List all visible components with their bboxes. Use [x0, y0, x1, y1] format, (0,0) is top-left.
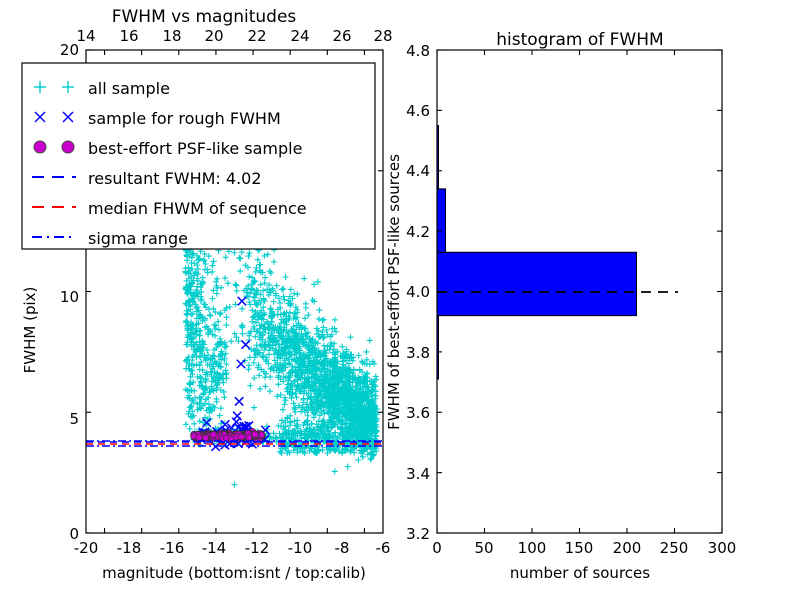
y-tick-label: 4.4 — [406, 162, 430, 180]
top-tick-label: 28 — [373, 27, 392, 45]
y-tick-label: 4.0 — [406, 283, 430, 301]
right-panel-yticklabels: 3.2 3.4 3.6 3.8 4.0 4.2 4.4 4.6 4.8 — [406, 42, 430, 543]
x-tick-label: 250 — [660, 539, 689, 557]
legend-label: all sample — [88, 79, 170, 98]
y-tick-label: 3.4 — [406, 465, 430, 483]
bottom-tick-label: -14 — [202, 539, 227, 557]
y-tick-label: 3.6 — [406, 404, 430, 422]
figure-canvas: FWHM vs magnitudes 14 16 18 20 22 24 26 … — [0, 0, 800, 600]
y-tick-label: 3.8 — [406, 344, 430, 362]
legend-label: best-effort PSF-like sample — [88, 139, 302, 158]
bottom-tick-label: -16 — [160, 539, 185, 557]
x-tick-label: 50 — [474, 539, 493, 557]
bottom-tick-label: -8 — [335, 539, 350, 557]
top-tick-label: 26 — [332, 27, 351, 45]
y-tick-label: 0 — [69, 525, 79, 543]
left-panel-ylabel: FWHM (pix) — [21, 287, 39, 374]
top-tick-label: 24 — [290, 27, 309, 45]
top-tick-label: 14 — [76, 27, 95, 45]
y-tick-label: 4.2 — [406, 223, 430, 241]
right-panel-xlabel: number of sources — [510, 564, 650, 582]
legend[interactable]: all sample sample for rough FWHM best-ef… — [22, 63, 375, 249]
y-tick-label: 20 — [60, 41, 79, 59]
x-tick-label: 150 — [565, 539, 594, 557]
y-tick-label: 5 — [69, 410, 79, 428]
histogram-bar — [437, 252, 637, 315]
legend-label: sigma range — [88, 229, 188, 248]
y-tick-label: 4.8 — [406, 42, 430, 60]
bottom-tick-label: -12 — [245, 539, 270, 557]
top-tick-label: 20 — [204, 27, 223, 45]
matplotlib-figure: FWHM vs magnitudes 14 16 18 20 22 24 26 … — [0, 0, 800, 600]
y-tick-label: 10 — [60, 288, 79, 306]
top-tick-label: 18 — [162, 27, 181, 45]
legend-label: sample for rough FWHM — [88, 109, 281, 128]
x-tick-label: 0 — [432, 539, 442, 557]
bottom-tick-label: -6 — [376, 539, 391, 557]
legend-label: median FHWM of sequence — [88, 199, 307, 218]
x-tick-label: 100 — [518, 539, 547, 557]
bottom-tick-label: -10 — [288, 539, 313, 557]
top-tick-label: 16 — [119, 27, 138, 45]
top-tick-label: 22 — [247, 27, 266, 45]
right-panel-title: histogram of FWHM — [496, 30, 663, 50]
histogram-bar — [437, 189, 446, 252]
left-panel-xlabel: magnitude (bottom:isnt / top:calib) — [102, 564, 366, 582]
right-panel-ylabel: FWHM of best-effort PSF-like sources — [385, 154, 403, 430]
x-tick-label: 300 — [708, 539, 737, 557]
x-tick-label: 200 — [613, 539, 642, 557]
y-tick-label: 3.2 — [406, 525, 430, 543]
y-tick-label: 4.6 — [406, 102, 430, 120]
legend-label: resultant FWHM: 4.02 — [88, 169, 262, 188]
bottom-tick-label: -18 — [117, 539, 142, 557]
left-panel-title: FWHM vs magnitudes — [112, 7, 297, 27]
